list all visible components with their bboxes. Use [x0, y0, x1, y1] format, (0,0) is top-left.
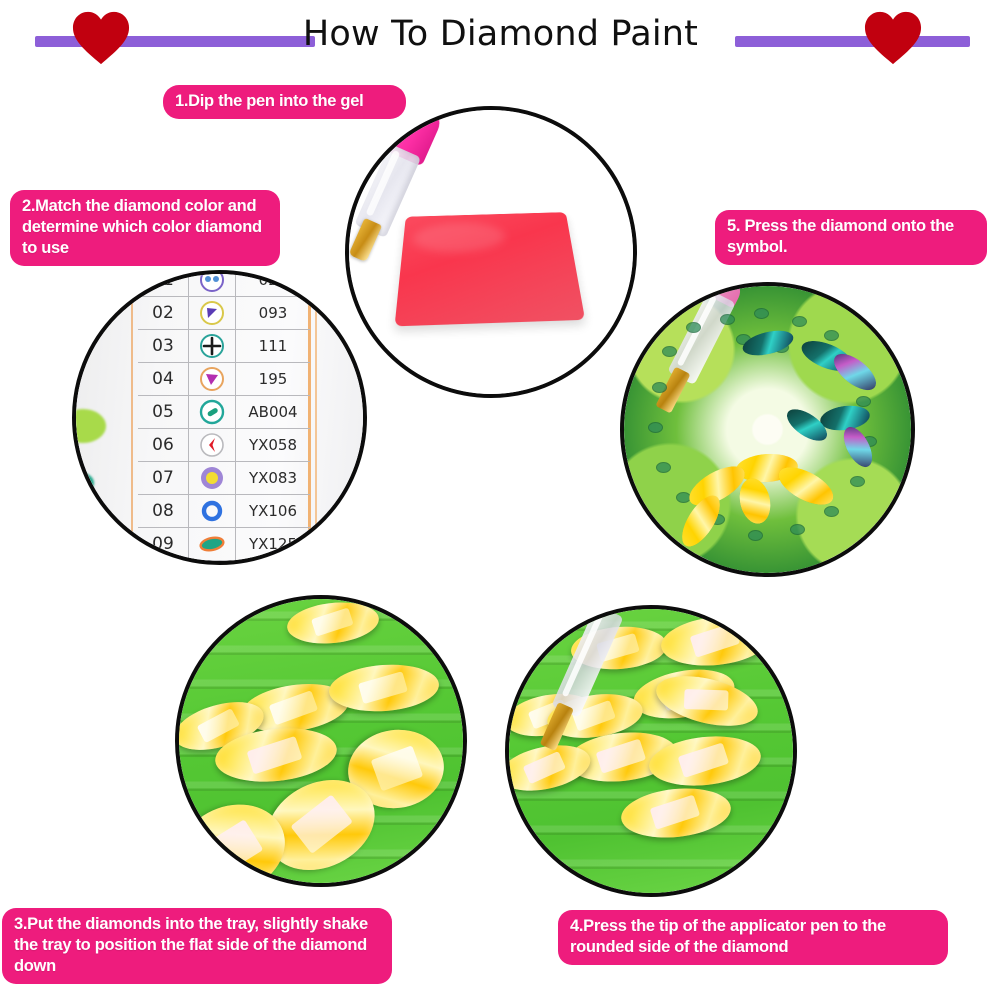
step-5-label: 5. Press the diamond onto the symbol. [715, 210, 987, 265]
table-row: 09YX125 [138, 528, 310, 561]
table-row: 06YX058 [138, 429, 310, 462]
canvas-gem [740, 326, 796, 360]
step-3-photo [175, 595, 467, 887]
chart-row-code: 093 [236, 304, 310, 322]
page-title: How To Diamond Paint [0, 14, 1001, 54]
canvas-symbol-dot [792, 316, 807, 327]
table-row: 02093 [138, 297, 310, 330]
page-header: How To Diamond Paint [0, 0, 1001, 78]
leaf-icon [189, 528, 236, 560]
table-row: 01028 [138, 274, 310, 297]
chart-row-code: 111 [236, 337, 310, 355]
color-chart-table: 0102802093031110419505AB00406YX05807YX08… [138, 274, 310, 561]
step-4-photo [505, 605, 797, 897]
magenta-triangle-icon [189, 363, 236, 395]
step-1-photo [345, 106, 637, 398]
table-row: 08YX106 [138, 495, 310, 528]
canvas-gem [736, 475, 775, 526]
chart-row-code: YX058 [236, 436, 310, 454]
canvas-symbol-dot [676, 492, 691, 503]
slash-capsule-icon [189, 396, 236, 428]
chart-row-code: 028 [236, 274, 310, 289]
filled-circle-icon [189, 462, 236, 494]
canvas-symbol-dot [754, 308, 769, 319]
chart-row-code: YX125 [236, 535, 310, 553]
canvas-gem [819, 403, 872, 434]
chart-row-number: 04 [138, 363, 189, 395]
chart-row-code: 195 [236, 370, 310, 388]
step-2-label: 2.Match the diamond color and determine … [10, 190, 280, 266]
pen-tip [349, 218, 382, 262]
step-2-photo: 0102802093031110419505AB00406YX05807YX08… [72, 270, 367, 565]
chart-row-number: 03 [138, 330, 189, 362]
canvas-symbol-dot [656, 462, 671, 473]
triangle-flag-icon [189, 297, 236, 329]
canvas-symbol-dot [850, 476, 865, 487]
canvas-symbol-dot [652, 382, 667, 393]
table-row: 05AB004 [138, 396, 310, 429]
plus-icon [189, 330, 236, 362]
step-5-photo [620, 282, 915, 577]
chart-row-number: 09 [138, 528, 189, 560]
canvas-symbol-dot [824, 330, 839, 341]
table-row: 04195 [138, 363, 310, 396]
chart-margin-line [315, 274, 317, 561]
table-row: 03111 [138, 330, 310, 363]
chart-row-number: 08 [138, 495, 189, 527]
canvas-symbol-dot [748, 530, 763, 541]
canvas-symbol-dot [648, 422, 663, 433]
gel-pad [395, 212, 586, 326]
chart-row-number: 02 [138, 297, 189, 329]
chart-row-number: 07 [138, 462, 189, 494]
canvas-symbol-dot [790, 524, 805, 535]
ring-icon [189, 495, 236, 527]
applicator-pen [627, 286, 753, 445]
chart-row-code: YX083 [236, 469, 310, 487]
canvas-symbol-dot [686, 322, 701, 333]
step-3-label: 3.Put the diamonds into the tray, slight… [2, 908, 392, 984]
canvas-symbol-dot [824, 506, 839, 517]
chart-row-code: AB004 [236, 403, 310, 421]
chart-row-number: 05 [138, 396, 189, 428]
chart-row-number: 06 [138, 429, 189, 461]
chart-margin-line [131, 274, 133, 561]
infographic-page: How To Diamond Paint 1.Dip the pen into … [0, 0, 1001, 1001]
left-chevron-icon [189, 429, 236, 461]
pen-tip [540, 702, 574, 751]
step-4-label: 4.Press the tip of the applicator pen to… [558, 910, 948, 965]
canvas-symbol-dot [856, 396, 871, 407]
step-1-label: 1.Dip the pen into the gel [163, 85, 406, 119]
double-dot-icon [189, 274, 236, 296]
canvas-symbol-dot [662, 346, 677, 357]
chart-row-code: YX106 [236, 502, 310, 520]
canvas-symbol-dot [720, 314, 735, 325]
table-row: 07YX083 [138, 462, 310, 495]
chart-row-number: 01 [138, 274, 189, 296]
